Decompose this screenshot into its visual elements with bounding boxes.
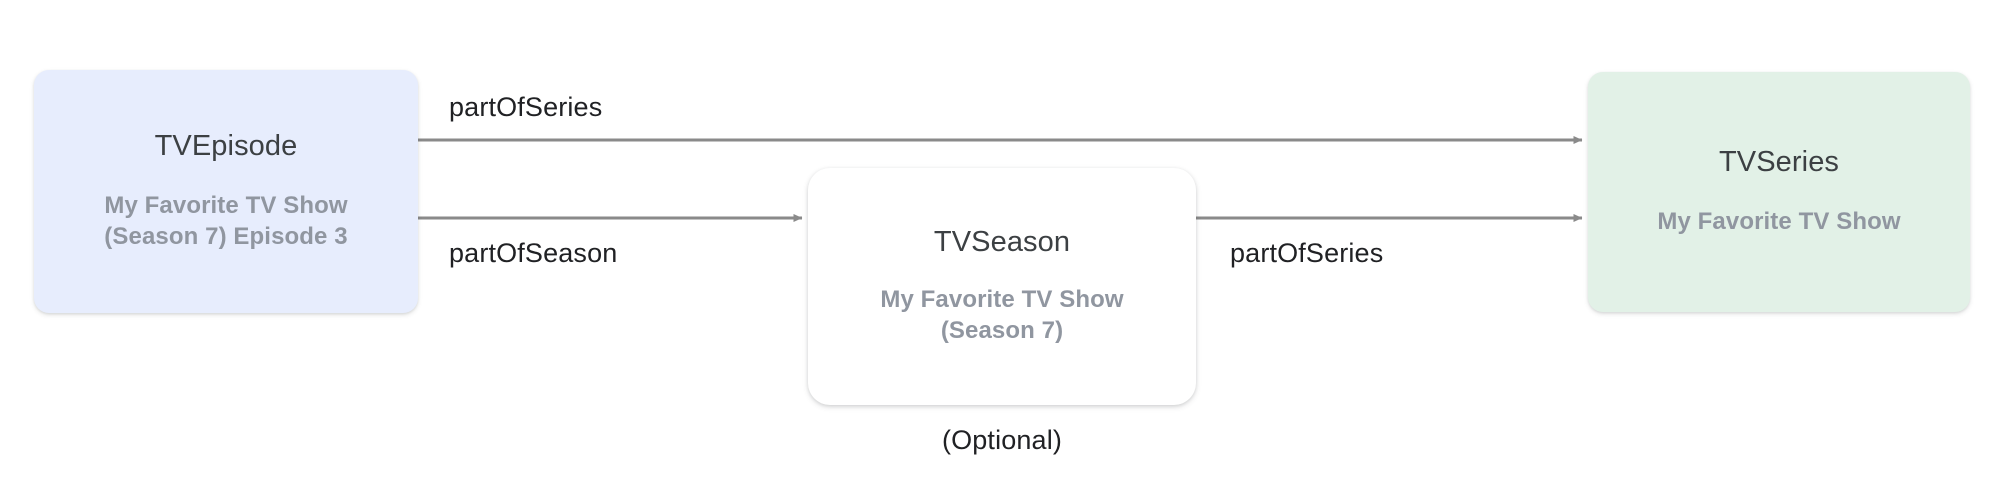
node-tvseason-subtitle-line2: (Season 7) [880, 315, 1123, 347]
node-tvepisode-subtitle-line1: My Favorite TV Show [104, 190, 347, 222]
edge-label-season-to-series: partOfSeries [1230, 240, 1383, 267]
edge-label-episode-to-season: partOfSeason [449, 240, 617, 267]
node-tvseries-title: TVSeries [1719, 146, 1839, 179]
node-tvepisode-subtitle: My Favorite TV Show (Season 7) Episode 3 [90, 190, 361, 253]
node-tvseason-subtitle-line1: My Favorite TV Show [880, 284, 1123, 316]
edge-label-episode-to-series: partOfSeries [449, 94, 602, 121]
node-tvepisode-subtitle-line2: (Season 7) Episode 3 [104, 221, 347, 253]
node-tvseries-subtitle: My Favorite TV Show [1643, 206, 1914, 238]
node-tvepisode[interactable]: TVEpisode My Favorite TV Show (Season 7)… [34, 70, 418, 313]
node-tvseason-optional-note: (Optional) [808, 427, 1196, 454]
node-tvseries[interactable]: TVSeries My Favorite TV Show [1588, 72, 1970, 312]
node-tvseason-title: TVSeason [934, 226, 1070, 259]
node-tvseason-subtitle: My Favorite TV Show (Season 7) [866, 284, 1137, 347]
diagram-canvas: TVEpisode My Favorite TV Show (Season 7)… [0, 0, 2000, 495]
node-tvepisode-title: TVEpisode [155, 130, 298, 163]
node-tvseason[interactable]: TVSeason My Favorite TV Show (Season 7) [808, 168, 1196, 405]
